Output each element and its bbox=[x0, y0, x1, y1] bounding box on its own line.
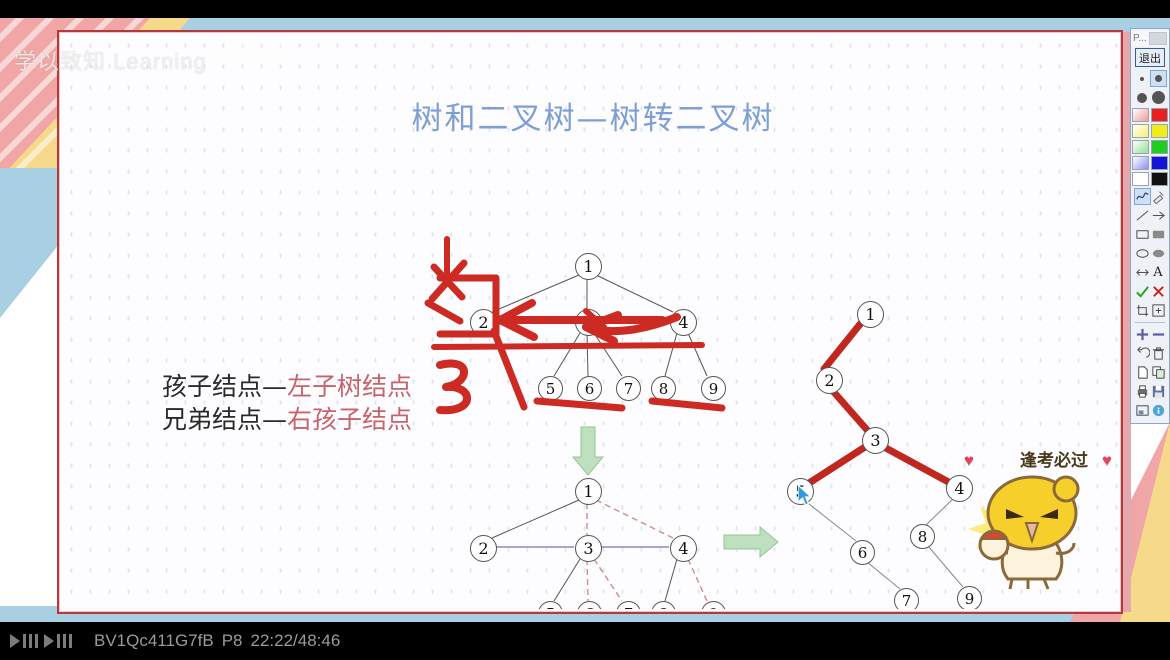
arrow-icon[interactable] bbox=[1151, 208, 1166, 223]
tool-row-11 bbox=[1131, 382, 1169, 401]
exit-button[interactable]: 退出 bbox=[1135, 48, 1165, 67]
pen-size-xlarge-button[interactable] bbox=[1151, 90, 1166, 105]
toolbar-preview-swatch bbox=[1149, 32, 1167, 45]
binary-node-1: 1 bbox=[857, 301, 884, 328]
color-swatch-light-green[interactable] bbox=[1132, 140, 1149, 154]
annotation-toolbar[interactable]: P... 退出 bbox=[1130, 28, 1170, 424]
color-row-blue bbox=[1131, 155, 1169, 171]
tool-row-7 bbox=[1131, 301, 1169, 320]
video-id-label: BV1Qc411G7fB bbox=[94, 631, 214, 651]
copy-icon[interactable] bbox=[1151, 365, 1166, 380]
binary-node-2: 2 bbox=[816, 367, 843, 394]
tool-row-3 bbox=[1131, 225, 1169, 244]
tool-row-9 bbox=[1131, 344, 1169, 363]
minus-icon[interactable] bbox=[1151, 327, 1166, 342]
ellipse-icon[interactable] bbox=[1135, 246, 1150, 261]
source-node-9: 9 bbox=[701, 376, 726, 401]
color-swatch-black[interactable] bbox=[1151, 172, 1168, 186]
middle-node-1: 1 bbox=[575, 478, 602, 505]
filled-rectangle-icon[interactable] bbox=[1151, 227, 1166, 242]
toolbar-header: P... bbox=[1131, 31, 1169, 46]
tool-row-2 bbox=[1131, 206, 1169, 225]
color-swatch-green[interactable] bbox=[1151, 140, 1168, 154]
color-swatch-red[interactable] bbox=[1151, 108, 1168, 122]
info-icon[interactable] bbox=[1151, 403, 1166, 418]
export-icon[interactable] bbox=[1135, 403, 1150, 418]
source-node-7: 7 bbox=[616, 376, 641, 401]
player-status-bar: BV1Qc411G7fB P8 22:22/48:46 bbox=[0, 622, 1170, 660]
tool-row-10 bbox=[1131, 363, 1169, 382]
color-swatch-light-yellow[interactable] bbox=[1132, 124, 1149, 138]
color-swatch-yellow[interactable] bbox=[1151, 124, 1168, 138]
pen-size-small-button[interactable] bbox=[1135, 71, 1150, 86]
source-node-3: 3 bbox=[575, 309, 602, 336]
binary-node-6: 6 bbox=[850, 540, 875, 565]
middle-node-4: 4 bbox=[670, 535, 697, 562]
trash-icon[interactable] bbox=[1151, 346, 1166, 361]
binary-node-8: 8 bbox=[910, 524, 935, 549]
pen-icon[interactable] bbox=[1135, 189, 1150, 204]
color-row-red bbox=[1131, 107, 1169, 123]
slide-canvas[interactable]: 树和二叉树—树转二叉树 孩子结点—左子树结点 兄弟结点—右孩子结点 bbox=[0, 18, 1170, 622]
video-part-label: P8 bbox=[222, 631, 243, 651]
color-swatch-light-red[interactable] bbox=[1132, 108, 1149, 122]
print-icon[interactable] bbox=[1135, 384, 1150, 399]
check-icon[interactable] bbox=[1135, 284, 1150, 299]
line-icon[interactable] bbox=[1135, 208, 1150, 223]
source-node-2: 2 bbox=[470, 309, 497, 336]
undo-icon[interactable] bbox=[1135, 346, 1150, 361]
cross-icon[interactable] bbox=[1151, 284, 1166, 299]
new-page-icon[interactable] bbox=[1135, 365, 1150, 380]
color-row-green bbox=[1131, 139, 1169, 155]
source-node-1: 1 bbox=[575, 253, 602, 280]
source-node-4: 4 bbox=[670, 309, 697, 336]
video-time-label: 22:22/48:46 bbox=[251, 631, 341, 651]
slide-paper: 树和二叉树—树转二叉树 孩子结点—左子树结点 兄弟结点—右孩子结点 bbox=[57, 30, 1123, 614]
source-node-6: 6 bbox=[577, 376, 602, 401]
pen-size-medium-button[interactable] bbox=[1151, 71, 1166, 86]
tool-row-1 bbox=[1131, 187, 1169, 206]
tool-row-5: A bbox=[1131, 263, 1169, 282]
source-node-8: 8 bbox=[651, 376, 676, 401]
tool-row-8 bbox=[1131, 325, 1169, 344]
plus-icon[interactable] bbox=[1135, 327, 1150, 342]
middle-node-3: 3 bbox=[575, 535, 602, 562]
zoom-icon[interactable] bbox=[1151, 303, 1166, 318]
screen: 树和二叉树—树转二叉树 孩子结点—左子树结点 兄弟结点—右孩子结点 bbox=[0, 0, 1170, 660]
crop-icon[interactable] bbox=[1135, 303, 1150, 318]
color-row-mono bbox=[1131, 171, 1169, 187]
double-arrow-icon[interactable] bbox=[1135, 265, 1150, 280]
eraser-icon[interactable] bbox=[1151, 189, 1166, 204]
bilibili-logo-icon bbox=[8, 631, 86, 651]
pen-size-large-button[interactable] bbox=[1135, 90, 1150, 105]
save-icon[interactable] bbox=[1151, 384, 1166, 399]
color-swatch-light-blue[interactable] bbox=[1132, 156, 1149, 170]
tool-row-12 bbox=[1131, 401, 1169, 420]
text-icon[interactable]: A bbox=[1151, 265, 1166, 280]
binary-node-3: 3 bbox=[862, 427, 889, 454]
tool-row-4 bbox=[1131, 244, 1169, 263]
mouse-cursor bbox=[798, 485, 816, 514]
middle-node-2: 2 bbox=[470, 535, 497, 562]
color-row-yellow bbox=[1131, 123, 1169, 139]
mascot-character bbox=[958, 457, 1108, 597]
filled-ellipse-icon[interactable] bbox=[1151, 246, 1166, 261]
source-node-5: 5 bbox=[538, 376, 563, 401]
color-swatch-blue[interactable] bbox=[1151, 156, 1168, 170]
pen-size-row-1 bbox=[1131, 69, 1169, 88]
toolbar-divider-1 bbox=[1135, 322, 1165, 323]
rectangle-icon[interactable] bbox=[1135, 227, 1150, 242]
color-swatch-white[interactable] bbox=[1132, 172, 1149, 186]
paper-texture: 树和二叉树—树转二叉树 孩子结点—左子树结点 兄弟结点—右孩子结点 bbox=[62, 35, 1118, 609]
toolbar-app-label: P... bbox=[1133, 33, 1147, 44]
pen-size-row-2 bbox=[1131, 88, 1169, 107]
tool-row-6 bbox=[1131, 282, 1169, 301]
binary-node-7: 7 bbox=[894, 588, 919, 609]
